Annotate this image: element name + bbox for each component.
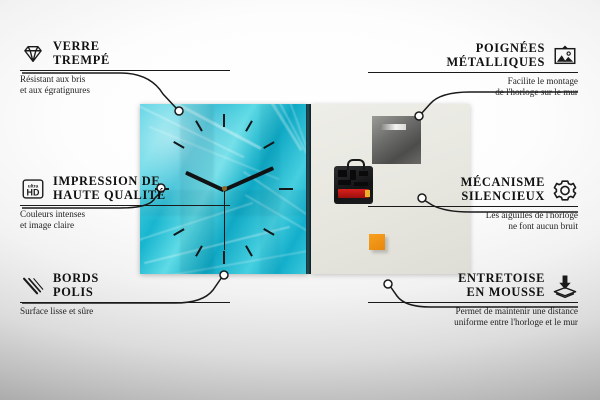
clock-tick <box>223 114 225 127</box>
title-divider <box>20 205 230 206</box>
feature-description: Surface lisse et sûre <box>20 306 230 317</box>
feature-description: Résistant aux bris et aux égratignures <box>20 74 230 95</box>
feature-description: Facilite le montage de l'horloge sur le … <box>368 76 578 97</box>
clock-tick <box>279 188 293 190</box>
feature-description: Permet de maintenir une distance uniform… <box>368 306 578 327</box>
ultra-hd-icon: ultra HD <box>20 176 46 202</box>
foam-spacer-pad <box>369 234 385 250</box>
feature-description: Couleurs intenses et image claire <box>20 209 230 230</box>
feature-header: ENTRETOISE EN MOUSSE <box>368 272 578 299</box>
title-divider <box>20 302 230 303</box>
metallic-hanger-plate <box>372 116 421 164</box>
feature-title: ENTRETOISE EN MOUSSE <box>458 272 545 299</box>
foam-spacer-arrow-icon <box>552 273 578 299</box>
feature-entretoise-en-mousse: ENTRETOISE EN MOUSSE Permet de maintenir… <box>368 272 578 327</box>
feature-title: IMPRESSION DE HAUTE QUALITÉ <box>53 175 166 202</box>
feature-header: VERRE TREMPÉ <box>20 40 230 67</box>
clock-tick <box>245 245 252 256</box>
feature-description: Les aiguilles de l'horloge ne font aucun… <box>368 210 578 231</box>
feature-mecanisme-silencieux: MÉCANISME SILENCIEUX Les aiguilles de l'… <box>368 176 578 231</box>
polished-edge-lines-icon <box>20 273 46 299</box>
mechanism-hanging-loop <box>347 159 365 170</box>
feature-header: MÉCANISME SILENCIEUX <box>368 176 578 203</box>
hanger-slot <box>380 124 406 130</box>
feature-title: VERRE TREMPÉ <box>53 40 110 67</box>
battery <box>338 189 369 198</box>
title-divider <box>20 70 230 71</box>
feature-title: BORDS POLIS <box>53 272 99 299</box>
feature-header: ultra HD IMPRESSION DE HAUTE QUALITÉ <box>20 175 230 202</box>
picture-frame-icon <box>552 43 578 69</box>
svg-text:HD: HD <box>27 187 40 197</box>
feature-title: POIGNÉES MÉTALLIQUES <box>447 42 546 69</box>
feature-header: BORDS POLIS <box>20 272 230 299</box>
feature-poignees-metalliques: POIGNÉES MÉTALLIQUES Facilite le montage… <box>368 42 578 97</box>
feature-verre-trempe: VERRE TREMPÉ Résistant aux bris et aux é… <box>20 40 230 95</box>
feature-header: POIGNÉES MÉTALLIQUES <box>368 42 578 69</box>
gear-icon <box>552 177 578 203</box>
title-divider <box>368 72 578 73</box>
diamond-icon <box>20 41 46 67</box>
clock-tick <box>223 251 225 264</box>
infographic-canvas: VERRE TREMPÉ Résistant aux bris et aux é… <box>0 0 600 400</box>
feature-title: MÉCANISME SILENCIEUX <box>461 176 545 203</box>
feature-impression-haute-qualite: ultra HD IMPRESSION DE HAUTE QUALITÉ Cou… <box>20 175 230 230</box>
title-divider <box>368 302 578 303</box>
feature-bords-polis: BORDS POLIS Surface lisse et sûre <box>20 272 230 317</box>
title-divider <box>368 206 578 207</box>
clock-tick <box>245 120 252 131</box>
